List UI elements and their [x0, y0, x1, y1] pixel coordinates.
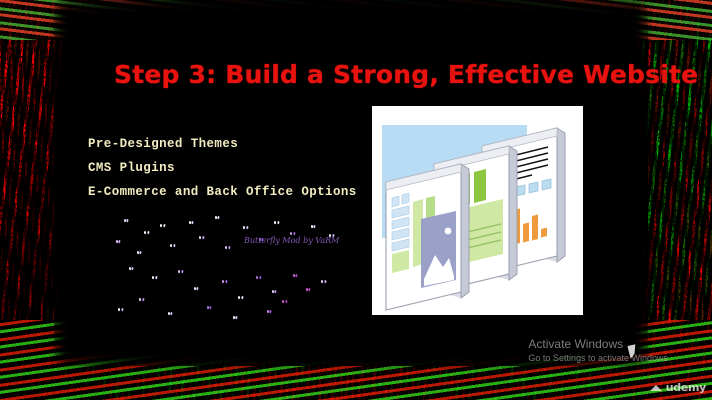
butterfly-signature: Butterfly Mod by VaRM	[244, 236, 339, 245]
slide-content: Step 3: Build a Strong, Effective Websit…	[68, 14, 634, 352]
bullet-item-1: Pre-Designed Themes	[88, 132, 357, 156]
butterfly-particles	[108, 214, 368, 334]
activation-subtext: Go to Settings to activate Windows	[528, 352, 668, 364]
udemy-brand-label: udemy	[666, 381, 706, 394]
udemy-logo-icon	[650, 383, 663, 392]
bullet-item-3: E-Commerce and Back Office Options	[88, 180, 357, 204]
slide-title: Step 3: Build a Strong, Effective Websit…	[114, 60, 698, 89]
bullet-item-2: CMS Plugins	[88, 156, 357, 180]
layer-front	[386, 164, 469, 310]
isometric-page-layers-svg	[372, 106, 583, 315]
udemy-watermark: udemy	[650, 381, 706, 394]
mouse-cursor	[628, 344, 639, 359]
presentation-slide: Step 3: Build a Strong, Effective Websit…	[0, 0, 712, 400]
website-layers-illustration	[372, 106, 583, 315]
bullet-list: Pre-Designed Themes CMS Plugins E-Commer…	[88, 132, 357, 204]
slide-stage: Step 3: Build a Strong, Effective Websit…	[68, 14, 634, 352]
